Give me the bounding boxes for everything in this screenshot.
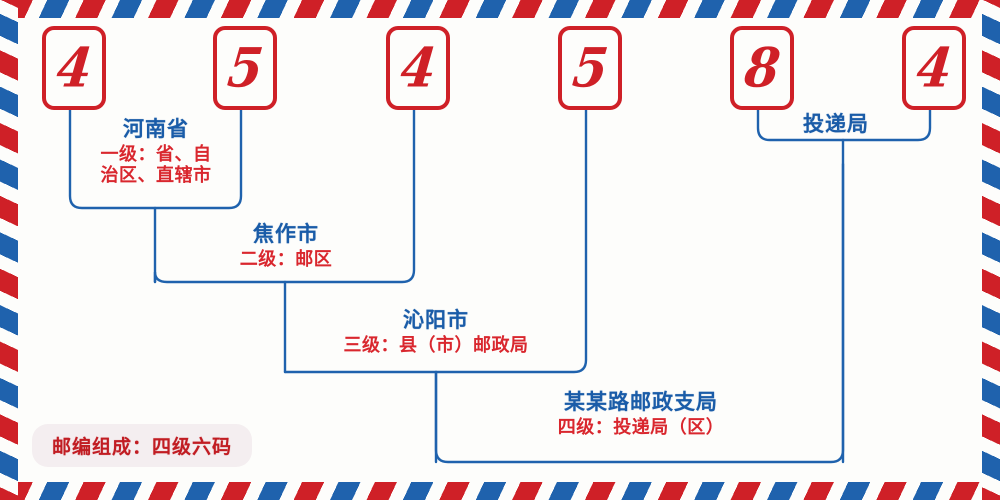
label-level-2-sub: 二级：邮区 bbox=[196, 249, 376, 270]
label-level-3-sub: 三级：县（市）邮政局 bbox=[310, 335, 562, 356]
label-level-4-title: 某某路邮政支局 bbox=[516, 390, 766, 415]
digit-glyph: 5 bbox=[225, 41, 265, 95]
postcode-digit-2[interactable]: 5 bbox=[213, 26, 277, 110]
label-delivery-office: 投递局 bbox=[803, 108, 869, 138]
label-level-4-sub: 四级：投递局（区） bbox=[516, 417, 766, 438]
digit-glyph: 8 bbox=[742, 41, 782, 95]
postal-code-diagram: 4 5 4 5 8 4 河南省 一级：省、自 治区、直辖市 焦作市 二级：邮区 … bbox=[0, 0, 1000, 500]
digit-glyph: 4 bbox=[398, 41, 438, 95]
postcode-digit-1[interactable]: 4 bbox=[42, 26, 106, 110]
label-level-2: 焦作市 二级：邮区 bbox=[196, 222, 376, 270]
label-level-4-sub-line-1: 四级：投递局（区） bbox=[516, 417, 766, 438]
postcode-digit-3[interactable]: 4 bbox=[386, 26, 450, 110]
postcode-digit-5[interactable]: 8 bbox=[730, 26, 794, 110]
label-level-2-title: 焦作市 bbox=[196, 222, 376, 247]
label-level-1-sub: 一级：省、自 治区、直辖市 bbox=[76, 144, 236, 186]
label-level-3: 沁阳市 三级：县（市）邮政局 bbox=[310, 308, 562, 356]
digit-glyph: 4 bbox=[914, 41, 954, 95]
digit-glyph: 4 bbox=[54, 41, 94, 95]
label-level-1-sub-line-2: 治区、直辖市 bbox=[76, 165, 236, 186]
label-level-2-sub-line-1: 二级：邮区 bbox=[196, 249, 376, 270]
label-level-4: 某某路邮政支局 四级：投递局（区） bbox=[516, 390, 766, 438]
postcode-digit-4[interactable]: 5 bbox=[558, 26, 622, 110]
label-level-3-title: 沁阳市 bbox=[310, 308, 562, 333]
label-level-3-sub-line-1: 三级：县（市）邮政局 bbox=[310, 335, 562, 356]
digit-glyph: 5 bbox=[570, 41, 610, 95]
label-level-1-sub-line-1: 一级：省、自 bbox=[76, 144, 236, 165]
postcode-digit-6[interactable]: 4 bbox=[902, 26, 966, 110]
label-level-1: 河南省 一级：省、自 治区、直辖市 bbox=[76, 117, 236, 186]
footnote-badge: 邮编组成：四级六码 bbox=[32, 424, 252, 467]
label-level-1-title: 河南省 bbox=[76, 117, 236, 142]
